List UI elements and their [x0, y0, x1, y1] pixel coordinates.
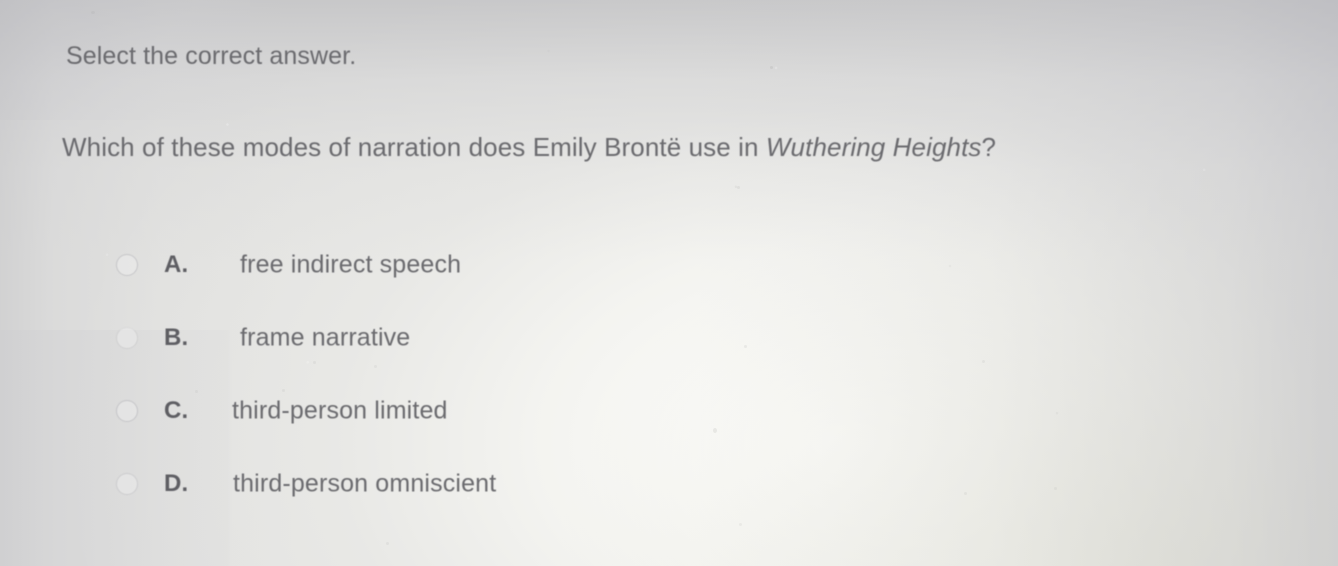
question-text-before-title: Which of these modes of narration does E…	[62, 132, 766, 162]
radio-button-c-icon[interactable]	[116, 400, 138, 422]
option-label-b[interactable]: frame narrative	[240, 323, 410, 352]
answer-option-c[interactable]: C. third-person limited	[0, 374, 1338, 447]
option-letter-a: A.	[164, 251, 188, 279]
answer-option-d[interactable]: D. third-person omniscient	[0, 447, 1338, 520]
option-letter-b: B.	[164, 324, 188, 352]
option-letter-c: C.	[164, 397, 188, 425]
option-letter-d: D.	[164, 470, 188, 498]
book-title: Wuthering Heights	[766, 132, 982, 162]
option-label-c[interactable]: third-person limited	[232, 396, 448, 425]
question-text-after-title: ?	[982, 132, 997, 162]
instruction-text: Select the correct answer.	[66, 40, 356, 72]
answer-option-a[interactable]: A. free indirect speech	[0, 228, 1338, 301]
question-content: Select the correct answer. Which of thes…	[0, 0, 1338, 566]
answer-options-list: A. free indirect speech B. frame narrati…	[0, 228, 1338, 520]
option-label-a[interactable]: free indirect speech	[240, 250, 461, 279]
question-text: Which of these modes of narration does E…	[62, 130, 996, 164]
quiz-screen-photo: Select the correct answer. Which of thes…	[0, 0, 1338, 566]
radio-button-b-icon[interactable]	[116, 327, 138, 349]
radio-button-a-icon[interactable]	[116, 254, 138, 276]
option-label-d[interactable]: third-person omniscient	[233, 469, 496, 498]
answer-option-b[interactable]: B. frame narrative	[0, 301, 1338, 374]
radio-button-d-icon[interactable]	[116, 473, 138, 495]
